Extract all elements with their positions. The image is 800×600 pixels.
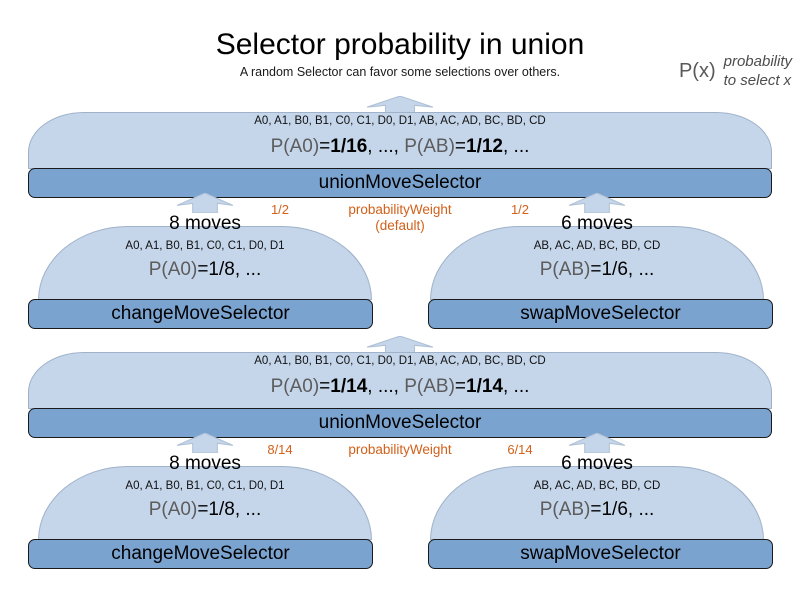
union-probability-text-7: , ...: [503, 136, 529, 157]
union-probability: P(A0)=1/16, ..., P(AB)=1/12, ...: [0, 135, 800, 158]
child-probability-left-prefix-0: P(A0): [149, 499, 198, 520]
union-probability-text-1: =: [319, 376, 330, 397]
child-probability-left: P(A0)=1/8, ...: [38, 258, 372, 281]
union-probability-text-1: =: [319, 136, 330, 157]
child-selector-label-left: changeMoveSelector: [111, 543, 290, 565]
child-output-arrow-left: [177, 433, 233, 453]
child-output-arrow-right: [569, 193, 625, 213]
union-probability-text-5: =: [455, 136, 466, 157]
union-probability-value-2: 1/14: [330, 376, 367, 397]
union-probability-text-5: =: [455, 376, 466, 397]
child-probability-right: P(AB)=1/6, ...: [430, 498, 764, 521]
union-probability-text-3: , ...,: [367, 136, 404, 157]
union-probability-prefix-4: P(AB): [404, 136, 455, 157]
child-probability-left-text-1: =1/8, ...: [197, 259, 261, 280]
union-probability-text-3: , ...,: [367, 376, 404, 397]
child-probability-right-text-1: =1/6, ...: [590, 259, 654, 280]
child-selector-label-right: swapMoveSelector: [520, 543, 681, 565]
child-selector-bar-right[interactable]: swapMoveSelector: [428, 539, 773, 569]
union-probability-prefix-0: P(A0): [271, 136, 320, 157]
child-output-arrow-left: [177, 193, 233, 213]
weight-left-label: 1/2: [245, 202, 315, 218]
weight-property-name: probabilityWeight: [320, 202, 480, 218]
union-probability-text-7: , ...: [503, 376, 529, 397]
union-probability-prefix-0: P(A0): [271, 376, 320, 397]
child-output-arrow-right: [569, 433, 625, 453]
union-probability-value-6: 1/14: [466, 376, 503, 397]
weight-property-default: (default): [320, 218, 480, 234]
child-probability-right: P(AB)=1/6, ...: [430, 258, 764, 281]
child-probability-left-prefix-0: P(A0): [149, 259, 198, 280]
union-move-selector-label: unionMoveSelector: [319, 172, 482, 194]
child-probability-left: P(A0)=1/8, ...: [38, 498, 372, 521]
union-move-selector-bar[interactable]: unionMoveSelector: [28, 408, 772, 438]
union-move-selector-label: unionMoveSelector: [319, 412, 482, 434]
union-probability-value-2: 1/16: [330, 136, 367, 157]
child-probability-left-text-1: =1/8, ...: [197, 499, 261, 520]
weight-property-name: probabilityWeight: [320, 442, 480, 458]
weight-property-label: probabilityWeight: [320, 442, 480, 458]
weight-right-label: 6/14: [485, 442, 555, 458]
weight-property-label: probabilityWeight(default): [320, 202, 480, 234]
weight-left-label: 8/14: [245, 442, 315, 458]
child-selector-bar-left[interactable]: changeMoveSelector: [28, 299, 373, 329]
child-probability-right-prefix-0: P(AB): [540, 259, 591, 280]
weight-right-label: 1/2: [485, 202, 555, 218]
child-probability-right-prefix-0: P(AB): [540, 499, 591, 520]
child-selector-bar-right[interactable]: swapMoveSelector: [428, 299, 773, 329]
selector-tree-diagram: A0, A1, B0, B1, C0, C1, D0, D1, AB, AC, …: [0, 0, 800, 600]
child-probability-right-text-1: =1/6, ...: [590, 499, 654, 520]
child-selector-label-right: swapMoveSelector: [520, 303, 681, 325]
union-probability-value-6: 1/12: [466, 136, 503, 157]
union-probability-prefix-4: P(AB): [404, 376, 455, 397]
union-move-selector-bar[interactable]: unionMoveSelector: [28, 168, 772, 198]
child-selector-bar-left[interactable]: changeMoveSelector: [28, 539, 373, 569]
child-selector-label-left: changeMoveSelector: [111, 303, 290, 325]
union-probability: P(A0)=1/14, ..., P(AB)=1/14, ...: [0, 375, 800, 398]
